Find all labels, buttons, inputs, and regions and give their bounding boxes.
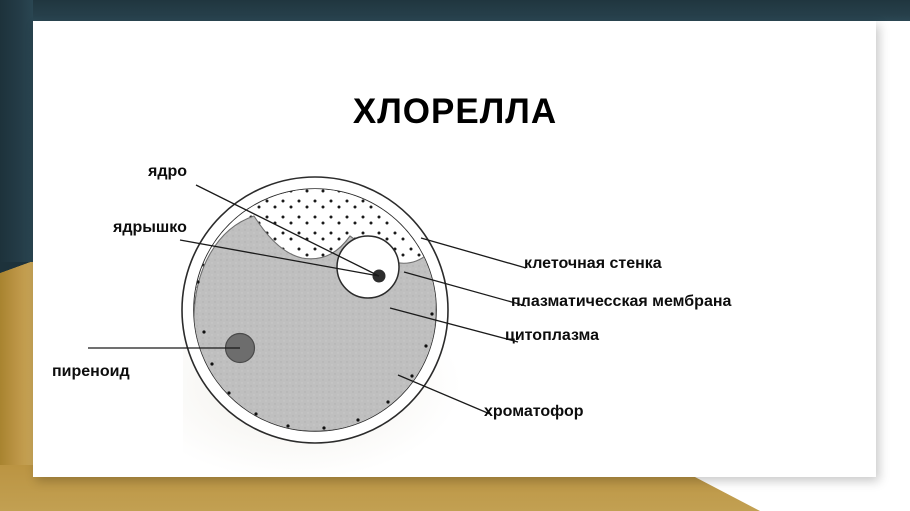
label-cell-wall: клеточная стенка — [524, 256, 662, 272]
frame-band-left-navy — [0, 0, 33, 272]
label-plasma-membrane: плазматичесская мембрана — [511, 294, 731, 310]
frame-band-top — [0, 0, 910, 21]
nucleus-circle — [337, 236, 399, 298]
slide-canvas: ХЛОРЕЛЛА — [0, 0, 910, 511]
label-cytoplasm: цитоплазма — [505, 328, 599, 344]
label-pyrenoid: пиреноид — [52, 364, 130, 380]
label-nucleus: ядро — [148, 164, 187, 180]
page-title: ХЛОРЕЛЛА — [0, 92, 910, 132]
chlorella-cell-diagram — [88, 150, 848, 480]
label-chromatophore: хроматофор — [484, 404, 584, 420]
label-nucleolus: ядрышко — [113, 220, 187, 236]
